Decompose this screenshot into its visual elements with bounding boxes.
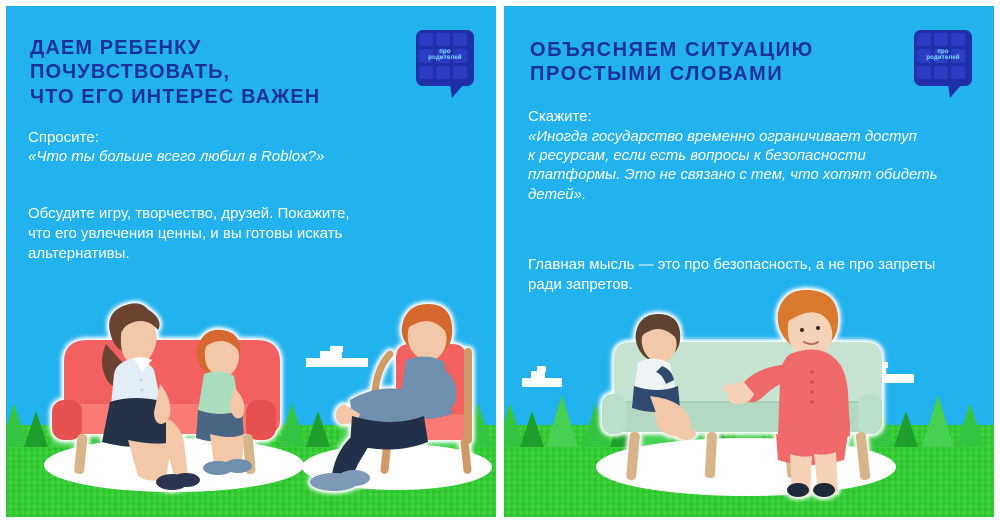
logo-text: про родителей [418,49,472,62]
illustration-woman-and-boy-on-sofa [600,286,900,498]
panel-quote: «Что ты больше всего любил в Roblox?» [28,147,324,166]
logo-text-line2: родителей [916,55,970,61]
panel-right: ОБЪЯСНЯЕМ СИТУАЦИЮ ПРОСТЫМИ СЛОВАМИ Скаж… [504,6,994,517]
cloud-icon [522,378,562,387]
panel-left: ДАЕМ РЕБЕНКУ ПОЧУВСТВОВАТЬ, ЧТО ЕГО ИНТЕ… [6,6,496,517]
logo-text-line2: родителей [418,55,472,61]
illustration-mother-and-boy-on-sofa [48,292,298,497]
brand-logo[interactable]: про родителей [914,30,976,102]
panel-title: ОБЪЯСНЯЕМ СИТУАЦИЮ ПРОСТЫМИ СЛОВАМИ [530,38,814,87]
panel-title: ДАЕМ РЕБЕНКУ ПОЧУВСТВОВАТЬ, ЧТО ЕГО ИНТЕ… [30,36,320,109]
panel-body: Главная мысль — это про безопасность, а … [528,255,935,295]
panel-quote: «Иногда государство временно ограничивае… [528,127,938,204]
infographic-board: ДАЕМ РЕБЕНКУ ПОЧУВСТВОВАТЬ, ЧТО ЕГО ИНТЕ… [0,0,1000,525]
illustration-young-man-in-armchair [306,292,491,497]
brand-logo[interactable]: про родителей [416,30,478,102]
logo-text: про родителей [916,49,970,62]
speech-bubble-tail-icon [450,84,464,98]
panel-lead: Спросите: [28,128,99,148]
panel-body: Обсудите игру, творчество, друзей. Покаж… [28,204,350,263]
panel-lead: Скажите: [528,107,592,127]
speech-bubble-tail-icon [948,84,962,98]
